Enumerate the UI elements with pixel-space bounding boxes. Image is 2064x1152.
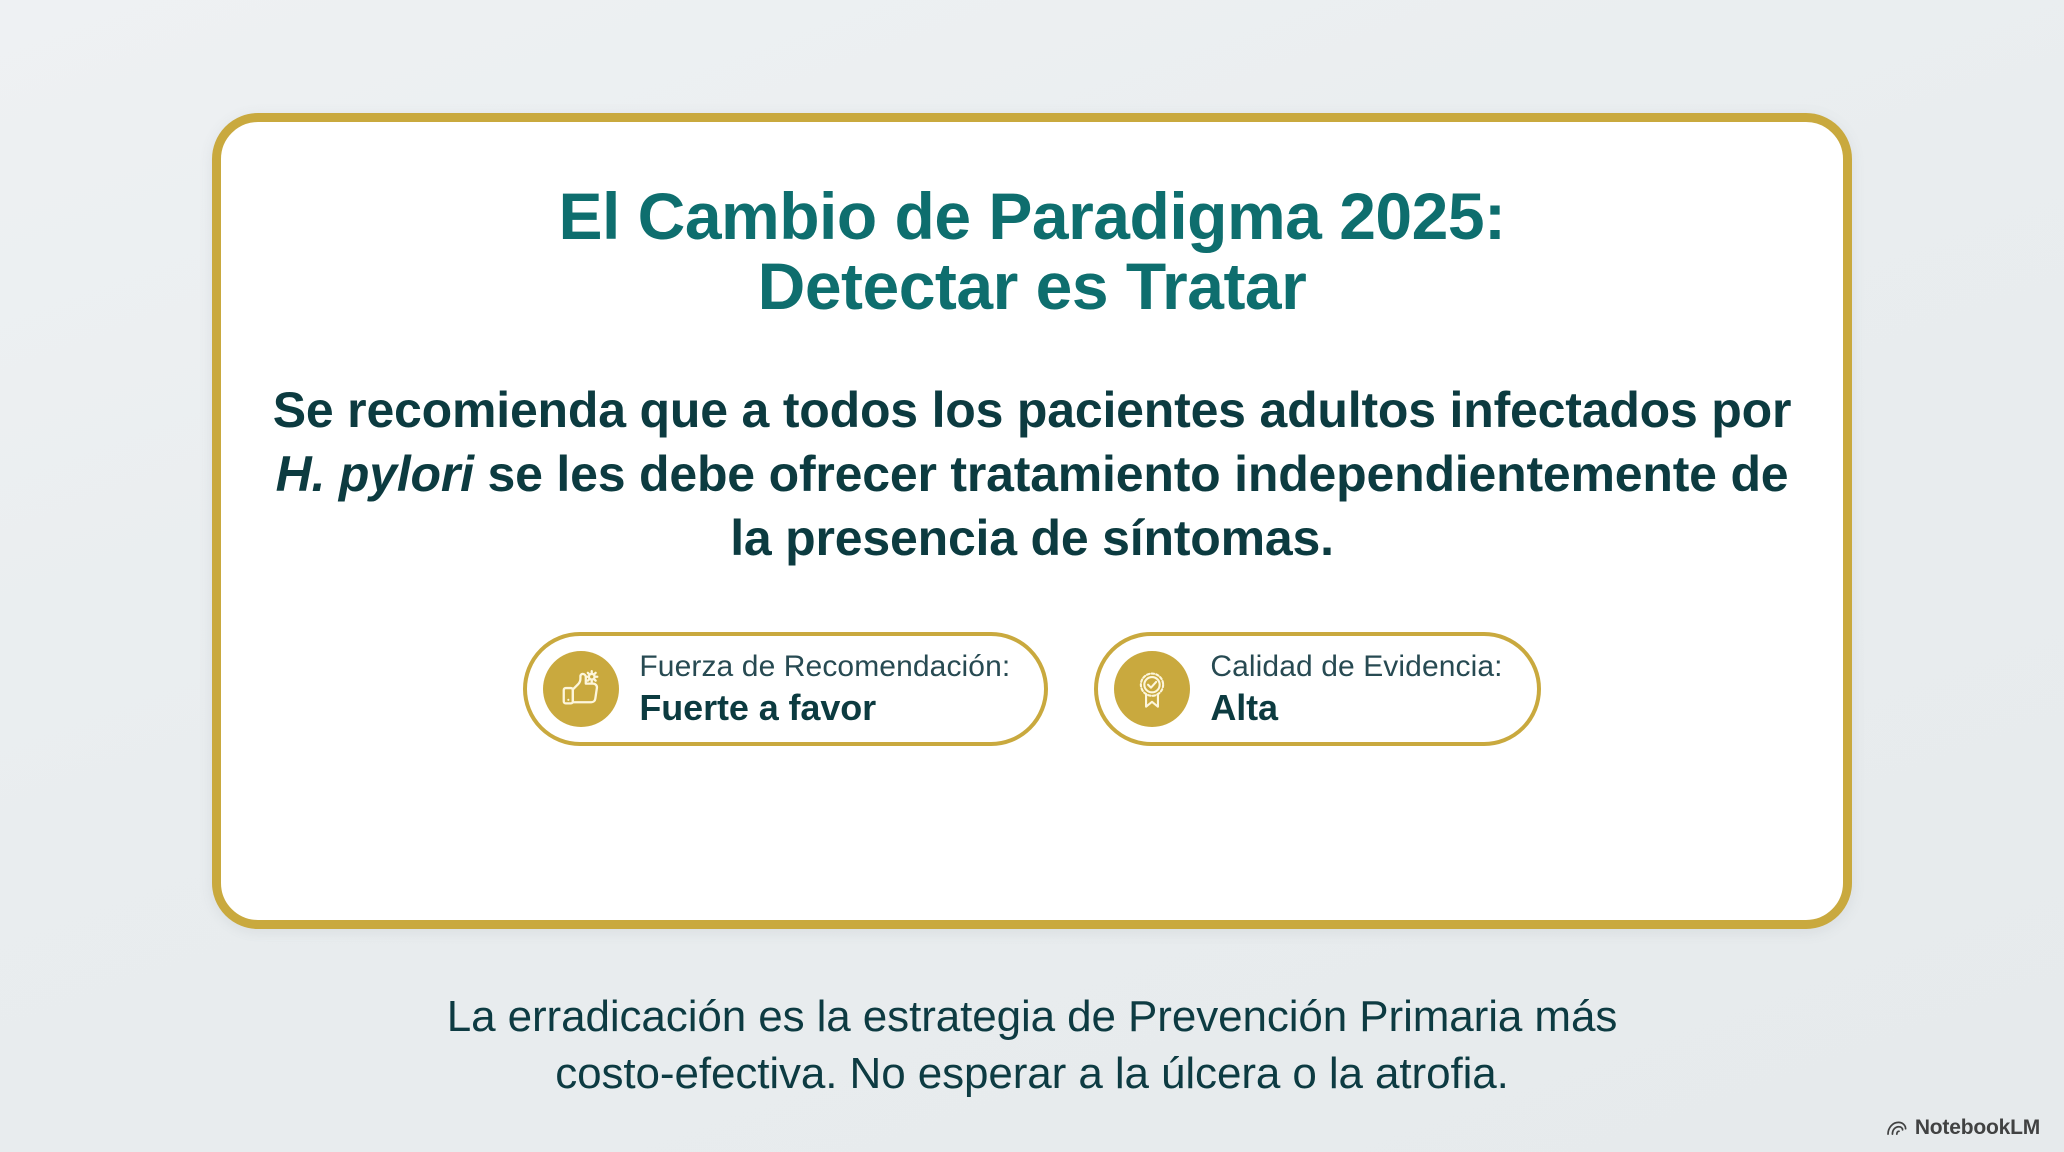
badge-row: Fuerza de Recomendación: Fuerte a favor … [523, 632, 1540, 746]
caption-line-1: La erradicación es la estrategia de Prev… [0, 988, 2064, 1045]
thumbs-up-icon [543, 651, 619, 727]
recommendation-statement: Se recomienda que a todos los pacientes … [252, 378, 1812, 570]
statement-part-2: se les debe ofrecer tratamiento independ… [474, 446, 1789, 566]
badge-label: Fuerza de Recomendación: [639, 650, 1010, 684]
card-title-line-2: Detectar es Tratar [221, 252, 1843, 322]
statement-part-1: Se recomienda que a todos los pacientes … [273, 382, 1792, 438]
card-title-line-1: El Cambio de Paradigma 2025: [221, 182, 1843, 252]
badge-text-group: Calidad de Evidencia: Alta [1210, 650, 1502, 728]
notebooklm-watermark: NotebookLM [1886, 1116, 2040, 1140]
slide-canvas: El Cambio de Paradigma 2025: Detectar es… [0, 0, 2064, 1152]
badge-label: Calidad de Evidencia: [1210, 650, 1502, 684]
badge-value: Fuerte a favor [639, 687, 1010, 728]
badge-text-group: Fuerza de Recomendación: Fuerte a favor [639, 650, 1010, 728]
notebooklm-spiral-icon [1886, 1120, 1908, 1136]
badge-value: Alta [1210, 687, 1502, 728]
recommendation-card: El Cambio de Paradigma 2025: Detectar es… [212, 113, 1852, 929]
statement-emphasis-organism: H. pylori [276, 446, 474, 502]
badge-evidence-quality: Calidad de Evidencia: Alta [1094, 632, 1540, 746]
award-medal-icon [1114, 651, 1190, 727]
card-title: El Cambio de Paradigma 2025: Detectar es… [221, 182, 1843, 322]
card-caption: La erradicación es la estrategia de Prev… [0, 988, 2064, 1102]
badge-recommendation-strength: Fuerza de Recomendación: Fuerte a favor [523, 632, 1048, 746]
notebooklm-label: NotebookLM [1915, 1116, 2040, 1140]
caption-line-2: costo-efectiva. No esperar a la úlcera o… [0, 1045, 2064, 1102]
